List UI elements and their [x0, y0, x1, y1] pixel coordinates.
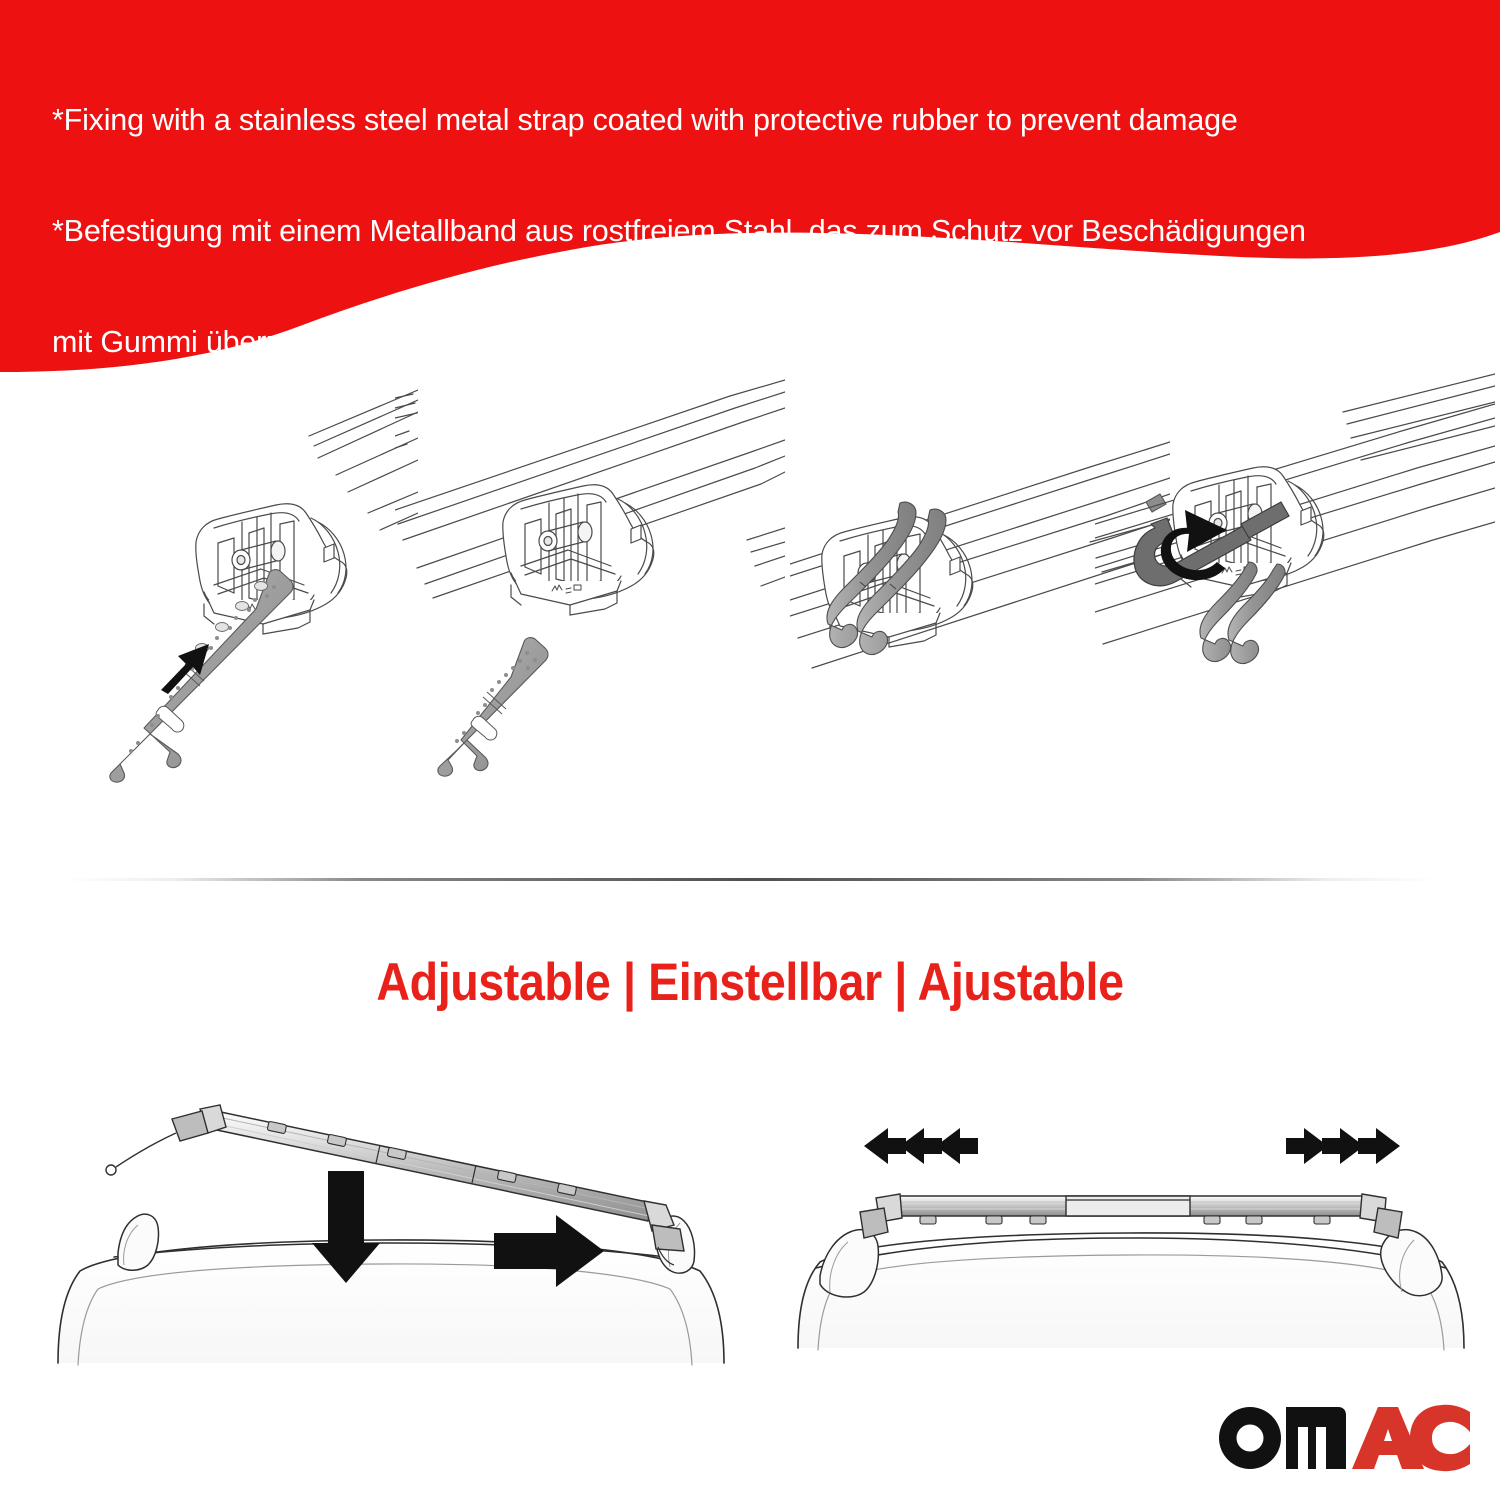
step-4-illustration — [1095, 372, 1495, 872]
banner-line-en: *Fixing with a stainless steel metal str… — [52, 102, 1452, 139]
car-roof-outline — [58, 1240, 724, 1365]
stainless-strap — [438, 638, 548, 777]
infographic-page: *Fixing with a stainless steel metal str… — [0, 0, 1500, 1500]
triple-left-arrow-icon — [864, 1128, 978, 1164]
banner-line-de-1: *Befestigung mit einem Metallband aus ro… — [52, 213, 1452, 250]
adjustable-heading: Adjustable | Einstellbar | Ajustable — [90, 952, 1410, 1013]
banner-line-de-2: mit Gummi überzogen ist — [52, 324, 1452, 361]
crossbar-horizontal — [860, 1194, 1402, 1238]
header-banner: *Fixing with a stainless steel metal str… — [0, 0, 1500, 380]
car-roof-outline — [798, 1233, 1464, 1350]
triple-right-arrow-icon — [1286, 1128, 1400, 1164]
installation-steps — [0, 372, 1500, 872]
step-1-illustration — [18, 372, 418, 872]
mounting-direction-diagram — [40, 1075, 770, 1375]
roof-rail-left — [820, 1230, 878, 1297]
logo-letter-c — [1410, 1405, 1470, 1471]
tether-cable — [106, 1133, 176, 1175]
step-2-illustration — [395, 372, 785, 872]
width-adjust-diagram — [790, 1120, 1470, 1380]
omac-logo — [1212, 1398, 1472, 1476]
logo-letter-o — [1219, 1407, 1281, 1469]
section-divider — [60, 878, 1440, 881]
logo-letter-m — [1286, 1407, 1346, 1469]
stainless-strap — [110, 570, 293, 783]
